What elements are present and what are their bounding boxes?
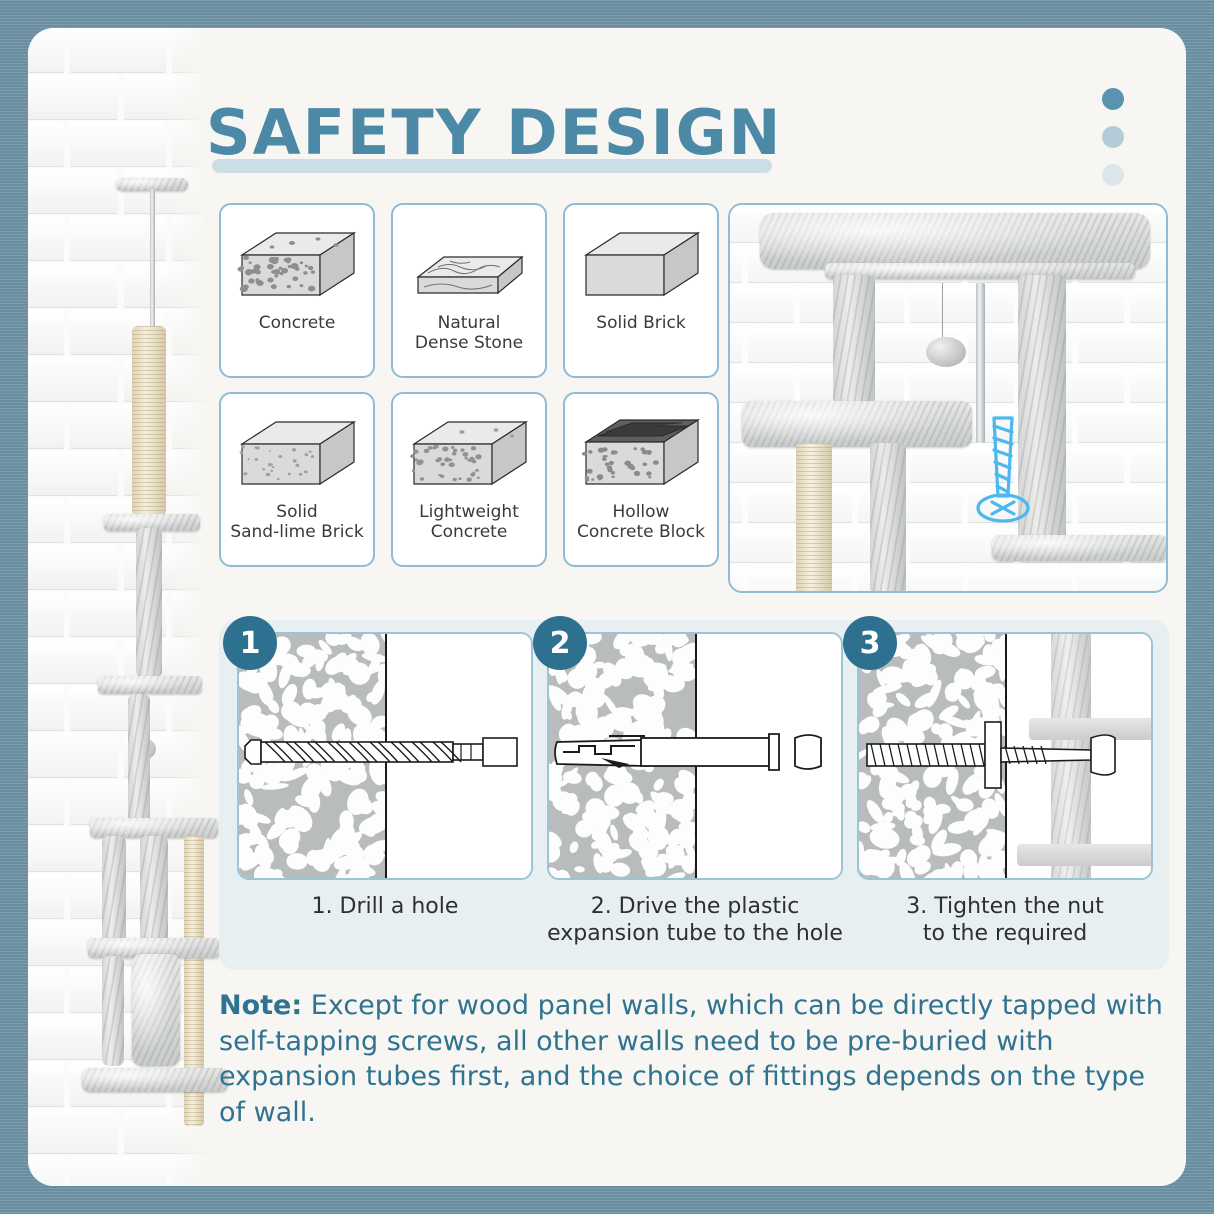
- material-row: Concrete NaturalDense Stone Solid Brick: [219, 203, 719, 378]
- block-illustration-block-plain: [576, 217, 706, 309]
- step-badge-2: 2: [533, 616, 587, 670]
- step-caption: 3. Tighten the nutto the required: [857, 894, 1153, 948]
- material-label: NaturalDense Stone: [415, 313, 523, 353]
- step-illustration-expansion-tube-in-wall: [547, 632, 843, 880]
- dot-active[interactable]: [1102, 88, 1124, 110]
- material-card-grid: Concrete NaturalDense Stone Solid Brick: [219, 203, 719, 581]
- step-1: 1 1. Drill a hole: [237, 632, 533, 948]
- material-label: HollowConcrete Block: [577, 502, 705, 542]
- material-label: Solid Brick: [596, 313, 685, 333]
- material-label: Concrete: [259, 313, 336, 333]
- material-label: SolidSand-lime Brick: [230, 502, 363, 542]
- note-block: Note: Except for wood panel walls, which…: [219, 988, 1174, 1131]
- material-card-solid-brick[interactable]: Solid Brick: [563, 203, 719, 378]
- page-canvas: SAFETY DESIGN Concrete NaturalDense Ston…: [28, 28, 1186, 1186]
- material-card-solid-sand-lime-brick[interactable]: SolidSand-lime Brick: [219, 392, 375, 567]
- mounted-product-photo: [728, 203, 1168, 593]
- block-illustration-block-stone-flat: [404, 217, 534, 309]
- material-card-hollow-concrete-block[interactable]: HollowConcrete Block: [563, 392, 719, 567]
- material-card-concrete[interactable]: Concrete: [219, 203, 375, 378]
- material-label: LightweightConcrete: [419, 502, 519, 542]
- block-illustration-block-fine-speckle: [232, 406, 362, 498]
- block-illustration-block-hollow: [576, 406, 706, 498]
- material-card-lightweight-concrete[interactable]: LightweightConcrete: [391, 392, 547, 567]
- step-badge-1: 1: [223, 616, 277, 670]
- material-card-natural-dense-stone[interactable]: NaturalDense Stone: [391, 203, 547, 378]
- screw-icon: [968, 410, 1038, 530]
- page-title: SAFETY DESIGN: [206, 96, 782, 169]
- step-caption: 1. Drill a hole: [237, 894, 533, 921]
- block-illustration-block-porous: [404, 406, 534, 498]
- dot-faint[interactable]: [1102, 164, 1124, 186]
- steps-row: 1 1. Drill a hole2: [237, 632, 1153, 948]
- dot-indicator: [1102, 88, 1124, 202]
- note-text: Except for wood panel walls, which can b…: [219, 990, 1163, 1128]
- dot-mid[interactable]: [1102, 126, 1124, 148]
- step-2: 2 2. Drive the plasticexpansion tube to …: [547, 632, 843, 948]
- step-illustration-drill-bit-in-wall: [237, 632, 533, 880]
- step-caption: 2. Drive the plasticexpansion tube to th…: [547, 894, 843, 948]
- step-3: 3 3. Tighten the nutto the required: [857, 632, 1153, 948]
- material-row: SolidSand-lime Brick LightweightConcrete…: [219, 392, 719, 567]
- step-illustration-screw-tightened-in-wall: [857, 632, 1153, 880]
- note-label: Note:: [219, 990, 302, 1021]
- block-illustration-block-speckled-dark: [232, 217, 362, 309]
- installation-steps-panel: 1 1. Drill a hole2: [219, 620, 1169, 970]
- step-badge-3: 3: [843, 616, 897, 670]
- header: SAFETY DESIGN: [206, 96, 782, 169]
